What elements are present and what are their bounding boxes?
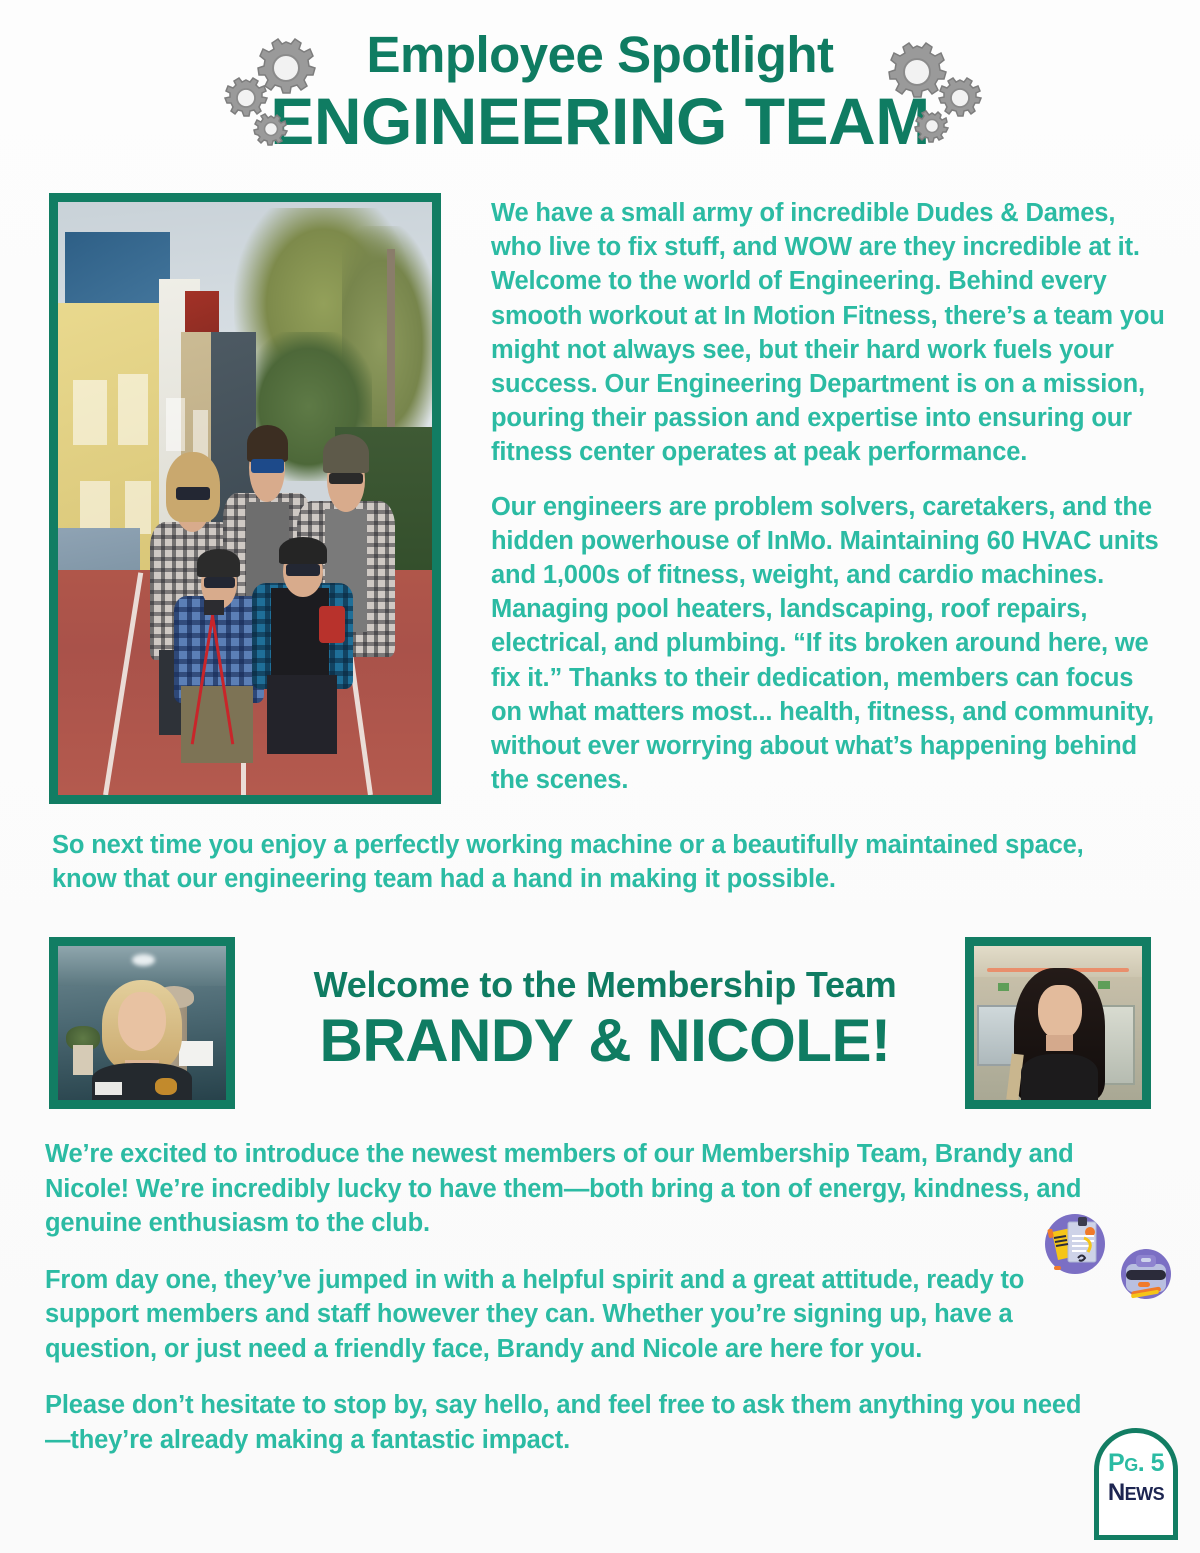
membership-names-line: BRANDY & NICOLE! — [255, 1008, 955, 1074]
membership-body-copy: We’re excited to introduce the newest me… — [45, 1137, 1085, 1457]
badge-news-n: N — [1108, 1479, 1125, 1506]
engineering-body-copy: We have a small army of incredible Dudes… — [491, 196, 1171, 797]
engineering-paragraph-2: Our engineers are problem solvers, caret… — [491, 490, 1171, 798]
engineering-closing-paragraph: So next time you enjoy a perfectly worki… — [52, 828, 1152, 896]
badge-pg-number: . 5 — [1138, 1449, 1164, 1477]
badge-page-number: PG. 5 — [1094, 1450, 1178, 1479]
membership-heading: Welcome to the Membership Team BRANDY & … — [255, 962, 955, 1074]
membership-paragraph-2: From day one, they’ve jumped in with a h… — [45, 1263, 1085, 1367]
badge-pg-p: P — [1108, 1449, 1124, 1477]
nicole-portrait — [965, 937, 1151, 1109]
engineering-paragraph-1: We have a small army of incredible Dudes… — [491, 196, 1171, 470]
membership-welcome-line: Welcome to the Membership Team — [255, 962, 955, 1008]
page-title-line1: Employee Spotlight — [0, 24, 1200, 86]
page-title-line2: ENGINEERING TEAM — [0, 86, 1200, 156]
page-header: Employee Spotlight ENGINEERING TEAM — [0, 24, 1200, 174]
engineering-team-photo — [49, 193, 441, 804]
badge-news-label: NEWS — [1094, 1480, 1178, 1507]
membership-paragraph-3: Please don’t hesitate to stop by, say he… — [45, 1388, 1085, 1457]
backpack-icon — [1118, 1248, 1176, 1307]
badge-pg-g: G — [1124, 1455, 1138, 1475]
badge-news-rest: EWS — [1125, 1484, 1165, 1504]
documents-clipboard-icon — [1040, 1212, 1112, 1283]
newsletter-page: Employee Spotlight ENGINEERING TEAM — [0, 0, 1200, 1553]
page-badge: PG. 5 NEWS — [1094, 1428, 1178, 1540]
membership-paragraph-1: We’re excited to introduce the newest me… — [45, 1137, 1085, 1241]
brandy-portrait — [49, 937, 235, 1109]
